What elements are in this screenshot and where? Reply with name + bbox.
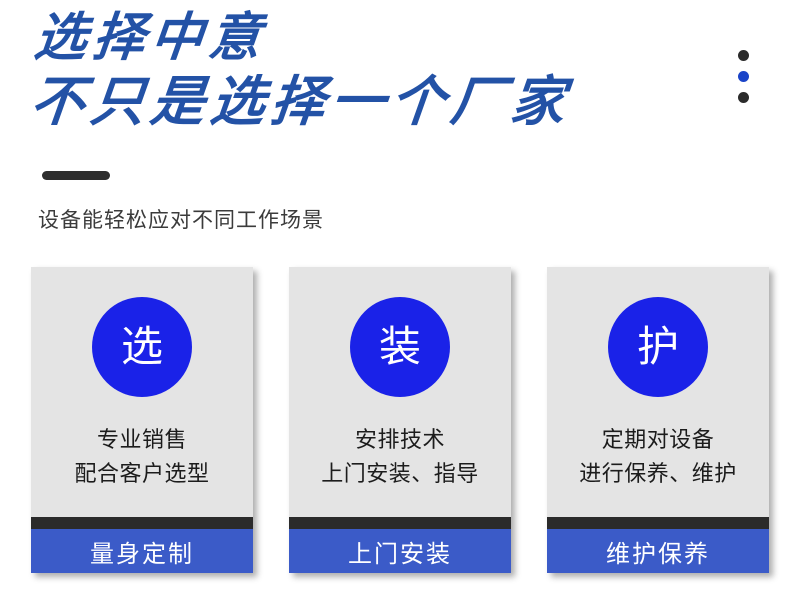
badge-label-2: 装 — [379, 326, 421, 368]
subtitle: 设备能轻松应对不同工作场景 — [38, 204, 324, 234]
headline: 选择中意 不只是选择一个厂家 — [28, 12, 688, 128]
dot-dark-top — [738, 50, 749, 61]
card-body-line-3a: 定期对设备 — [579, 423, 737, 457]
badge-label-1: 选 — [121, 326, 163, 368]
card-body-2: 安排技术 上门安装、指导 — [321, 423, 479, 491]
badge-circle-3: 护 — [608, 297, 708, 397]
card-footer-label-1: 量身定制 — [90, 534, 194, 569]
badge-circle-1: 选 — [92, 297, 192, 397]
feature-card-1[interactable]: 选 专业销售 配合客户选型 量身定制 — [31, 267, 253, 573]
card-body-line-2a: 安排技术 — [321, 423, 479, 457]
card-footer-label-2: 上门安装 — [348, 534, 452, 569]
card-body-line-3b: 进行保养、维护 — [579, 457, 737, 491]
card-body-3: 定期对设备 进行保养、维护 — [579, 423, 737, 491]
feature-card-3[interactable]: 护 定期对设备 进行保养、维护 维护保养 — [547, 267, 769, 573]
dot-decoration — [735, 50, 751, 103]
headline-line-2: 不只是选择一个厂家 — [28, 74, 694, 128]
dot-blue-middle — [738, 71, 749, 82]
feature-card-2[interactable]: 装 安排技术 上门安装、指导 上门安装 — [289, 267, 511, 573]
card-body-line-1b: 配合客户选型 — [74, 457, 209, 491]
header-section: 选择中意 不只是选择一个厂家 设备能轻松应对不同工作场景 — [0, 0, 790, 255]
card-footer-1[interactable]: 量身定制 — [31, 529, 253, 573]
card-dark-bar-2 — [289, 517, 511, 529]
divider-rule — [42, 171, 110, 180]
badge-circle-2: 装 — [350, 297, 450, 397]
card-dark-bar-1 — [31, 517, 253, 529]
headline-line-1: 选择中意 — [32, 12, 693, 64]
card-footer-2[interactable]: 上门安装 — [289, 529, 511, 573]
feature-card-list: 选 专业销售 配合客户选型 量身定制 装 安排技术 上门安装、指导 上门安装 护… — [31, 267, 770, 573]
card-body-line-2b: 上门安装、指导 — [321, 457, 479, 491]
card-dark-bar-3 — [547, 517, 769, 529]
badge-label-3: 护 — [637, 326, 679, 368]
card-body-line-1a: 专业销售 — [74, 423, 209, 457]
dot-dark-bottom — [738, 92, 749, 103]
card-footer-label-3: 维护保养 — [606, 534, 710, 569]
card-footer-3[interactable]: 维护保养 — [547, 529, 769, 573]
card-body-1: 专业销售 配合客户选型 — [74, 423, 209, 491]
